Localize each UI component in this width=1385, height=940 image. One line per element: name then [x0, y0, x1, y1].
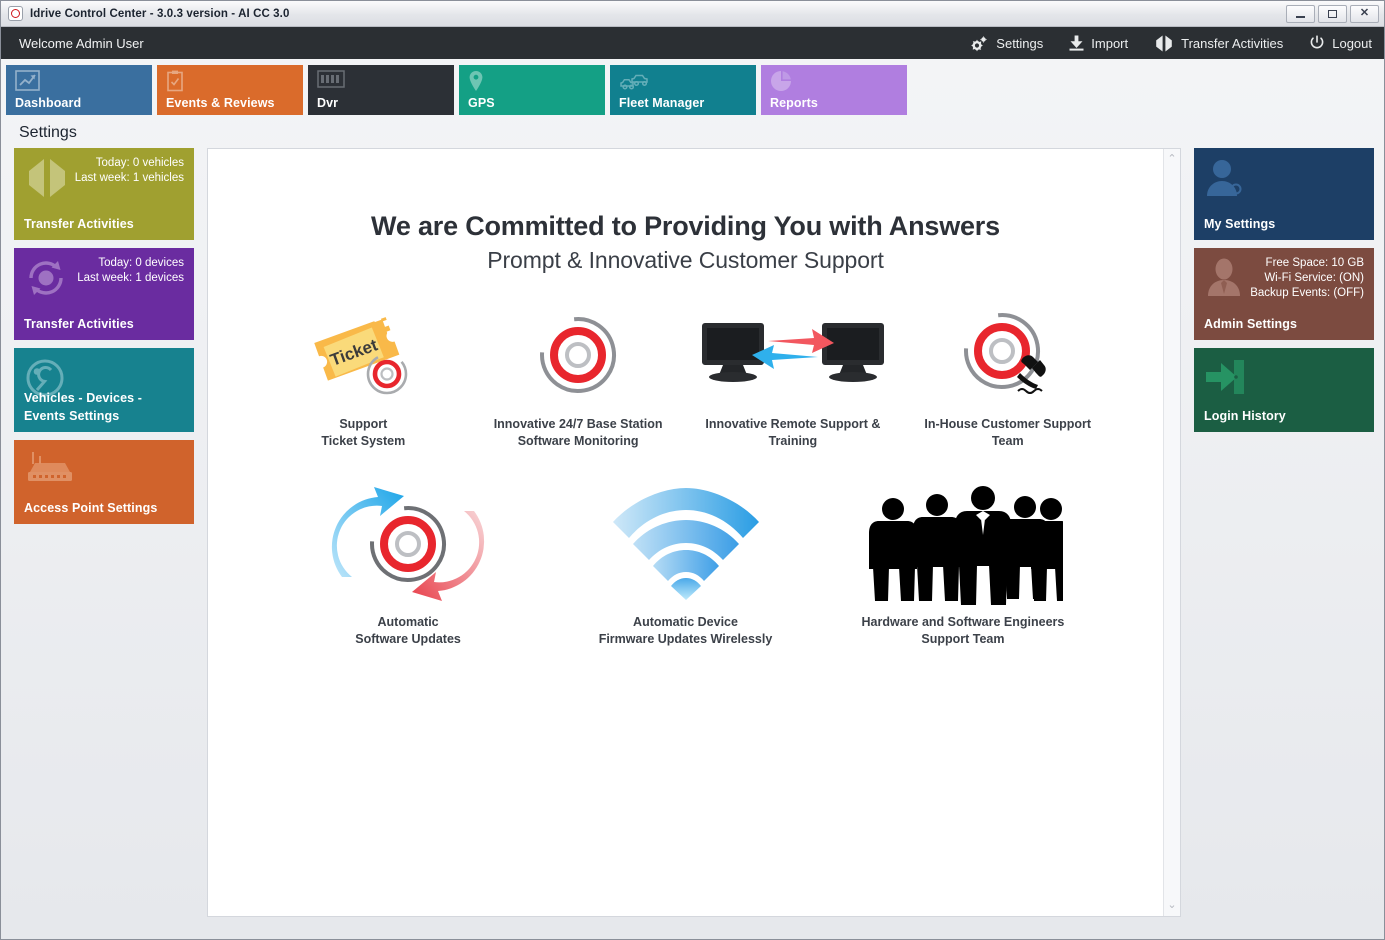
tile-label: Transfer Activities — [24, 317, 134, 331]
feature-hardware-software-engineers: Hardware and Software Engineers Support … — [824, 482, 1101, 648]
feature-caption: Automatic Device Firmware Updates Wirele… — [553, 614, 818, 648]
tile-label: Transfer Activities — [24, 217, 134, 231]
right-sidebar: My Settings Free Space: 10 GB Wi-Fi Serv… — [1194, 148, 1374, 917]
menu-items: Settings Import — [970, 35, 1372, 52]
clipboard-check-icon — [166, 79, 184, 96]
tile-label: Access Point Settings — [24, 501, 157, 515]
feature-caption: In-House Customer Support Team — [906, 416, 1109, 450]
menu-label-settings: Settings — [996, 36, 1043, 51]
tab-label-gps: GPS — [468, 96, 495, 110]
target-rings-icon — [477, 302, 680, 408]
tile-label: Login History — [1204, 409, 1286, 423]
feature-device-firmware-updates: Automatic Device Firmware Updates Wirele… — [547, 482, 824, 648]
tab-dvr[interactable]: Dvr — [308, 65, 454, 115]
tab-reports[interactable]: Reports — [761, 65, 907, 115]
feature-row-1: Ticket Support Ticket System — [208, 302, 1163, 484]
scroll-up-arrow[interactable]: ⌃ — [1167, 154, 1176, 165]
tab-label-dashboard: Dashboard — [15, 96, 81, 110]
ticket-target-icon: Ticket — [262, 302, 465, 408]
tile-my-settings[interactable]: My Settings — [1194, 148, 1374, 240]
scroll-down-arrow[interactable]: ⌄ — [1167, 900, 1176, 911]
window-title: Idrive Control Center - 3.0.3 version - … — [30, 8, 289, 20]
menu-item-import[interactable]: Import — [1069, 35, 1128, 51]
feature-caption: Automatic Software Updates — [275, 614, 540, 648]
target-phone-icon — [906, 302, 1109, 408]
cars-icon — [619, 77, 649, 94]
refresh-target-icon — [275, 482, 540, 606]
tile-login-history[interactable]: Login History — [1194, 348, 1374, 432]
top-menu-bar: Welcome Admin User Settings — [1, 27, 1384, 59]
menu-label-import: Import — [1091, 36, 1128, 51]
title-bar: Idrive Control Center - 3.0.3 version - … — [1, 1, 1384, 27]
subheadline: Prompt & Innovative Customer Support — [208, 247, 1163, 274]
headline-block: We are Committed to Providing You with A… — [208, 149, 1163, 274]
feature-row-2: Automatic Software Updates — [208, 482, 1163, 682]
tab-events-reviews[interactable]: Events & Reviews — [157, 65, 303, 115]
tile-label: Admin Settings — [1204, 317, 1297, 331]
feature-automatic-software-updates: Automatic Software Updates — [269, 482, 546, 648]
tab-dashboard[interactable]: Dashboard — [6, 65, 152, 115]
download-icon — [1069, 35, 1084, 51]
feature-in-house-support-team: In-House Customer Support Team — [900, 302, 1115, 450]
main-body: Today: 0 vehicles Last week: 1 vehicles … — [1, 148, 1384, 939]
tile-transfer-activities-devices[interactable]: Today: 0 devices Last week: 1 devices Tr… — [14, 248, 194, 340]
tab-label-dvr: Dvr — [317, 96, 338, 110]
tab-label-events-reviews: Events & Reviews — [166, 96, 275, 110]
tab-fleet-manager[interactable]: Fleet Manager — [610, 65, 756, 115]
tile-stats: Today: 0 devices Last week: 1 devices — [24, 256, 184, 286]
transfer-arrows-icon — [1154, 35, 1174, 52]
tile-stats: Today: 0 vehicles Last week: 1 vehicles — [24, 156, 184, 186]
main-navigation-tabs: Dashboard Events & Reviews Dvr GPS — [1, 59, 1384, 116]
stat-line: Backup Events: (OFF) — [1204, 286, 1364, 301]
tile-vehicles-devices-events-settings[interactable]: Vehicles - Devices - Events Settings — [14, 348, 194, 432]
dvr-icon — [317, 75, 345, 92]
close-button[interactable]: ✕ — [1350, 5, 1379, 23]
feature-remote-support-training: Innovative Remote Support & Training — [686, 302, 901, 450]
stat-line: Today: 0 vehicles — [24, 156, 184, 171]
stat-line: Last week: 1 vehicles — [24, 171, 184, 186]
content-scrollbar[interactable]: ⌃ ⌄ — [1163, 149, 1180, 916]
feature-caption: Innovative Remote Support & Training — [692, 416, 895, 450]
tile-stats: Free Space: 10 GB Wi-Fi Service: (ON) Ba… — [1204, 256, 1364, 301]
maximize-button[interactable] — [1318, 5, 1347, 23]
menu-label-logout: Logout — [1332, 36, 1372, 51]
tab-label-fleet-manager: Fleet Manager — [619, 96, 704, 110]
chart-trend-icon — [15, 78, 40, 95]
tile-label: Vehicles - Devices - Events Settings — [24, 391, 142, 423]
tab-gps[interactable]: GPS — [459, 65, 605, 115]
tile-admin-settings[interactable]: Free Space: 10 GB Wi-Fi Service: (ON) Ba… — [1194, 248, 1374, 340]
application-window: Idrive Control Center - 3.0.3 version - … — [0, 0, 1385, 940]
two-monitors-arrows-icon — [692, 302, 895, 408]
left-sidebar: Today: 0 vehicles Last week: 1 vehicles … — [14, 148, 194, 917]
feature-caption: Hardware and Software Engineers Support … — [830, 614, 1095, 648]
tab-label-reports: Reports — [770, 96, 818, 110]
menu-label-transfer-activities: Transfer Activities — [1181, 36, 1283, 51]
power-icon — [1309, 35, 1325, 51]
stat-line: Free Space: 10 GB — [1204, 256, 1364, 271]
stat-line: Last week: 1 devices — [24, 271, 184, 286]
tile-access-point-settings[interactable]: Access Point Settings — [14, 440, 194, 524]
app-icon — [8, 6, 23, 21]
welcome-message: Welcome Admin User — [19, 36, 144, 51]
tile-transfer-activities-vehicles[interactable]: Today: 0 vehicles Last week: 1 vehicles … — [14, 148, 194, 240]
window-controls: ✕ — [1286, 5, 1384, 23]
feature-support-ticket-system: Ticket Support Ticket System — [256, 302, 471, 450]
page-title: Settings — [1, 116, 1384, 148]
tile-label: My Settings — [1204, 217, 1275, 231]
minimize-button[interactable] — [1286, 5, 1315, 23]
gears-icon — [970, 35, 989, 52]
stat-line: Today: 0 devices — [24, 256, 184, 271]
menu-item-settings[interactable]: Settings — [970, 35, 1043, 52]
feature-caption: Support Ticket System — [262, 416, 465, 450]
content-panel: We are Committed to Providing You with A… — [207, 148, 1181, 917]
login-arrow-icon — [1204, 358, 1246, 401]
map-pin-icon — [468, 79, 484, 96]
router-icon — [24, 450, 76, 491]
headline: We are Committed to Providing You with A… — [208, 211, 1163, 242]
people-group-icon — [830, 482, 1095, 606]
stat-line: Wi-Fi Service: (ON) — [1204, 271, 1364, 286]
pie-chart-icon — [770, 79, 792, 96]
wifi-waves-icon — [553, 482, 818, 606]
feature-caption: Innovative 24/7 Base Station Software Mo… — [477, 416, 680, 450]
menu-item-transfer-activities[interactable]: Transfer Activities — [1154, 35, 1283, 52]
content-scroll-area: We are Committed to Providing You with A… — [208, 149, 1163, 916]
user-gear-icon — [1204, 158, 1244, 203]
menu-item-logout[interactable]: Logout — [1309, 35, 1372, 51]
feature-base-station-monitoring: Innovative 24/7 Base Station Software Mo… — [471, 302, 686, 450]
close-icon: ✕ — [1360, 8, 1369, 19]
